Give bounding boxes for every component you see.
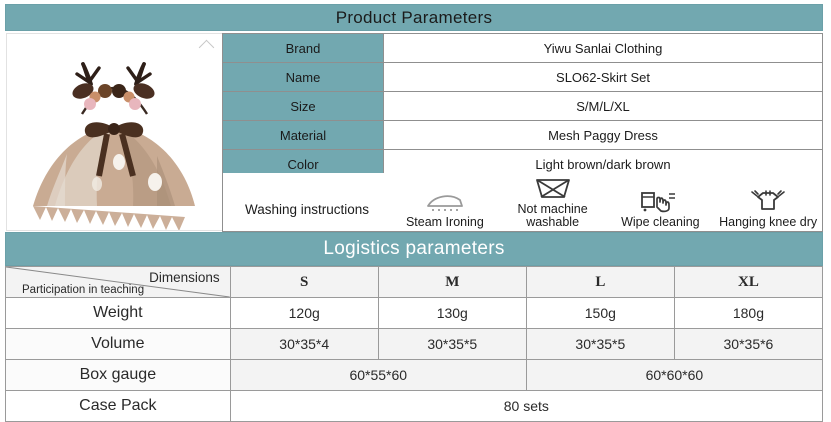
table-row: Brand Yiwu Sanlai Clothing <box>223 34 823 63</box>
param-value-material: Mesh Paggy Dress <box>384 121 823 150</box>
table-row: Material Mesh Paggy Dress <box>223 121 823 150</box>
param-label-name: Name <box>223 63 384 92</box>
product-parameters-banner: Product Parameters <box>5 4 823 31</box>
logistics-label-volume: Volume <box>6 329 231 360</box>
logistics-parameters-title: Logistics parameters <box>323 238 504 260</box>
param-label-brand: Brand <box>223 34 384 63</box>
logistics-volume-xl: 30*35*6 <box>674 329 822 360</box>
care-item-wipe-cleaning: Wipe cleaning <box>607 188 715 231</box>
logistics-case-pack-value: 80 sets <box>230 391 822 422</box>
hang-dry-icon <box>746 188 790 214</box>
washing-instructions-row: Washing instructions Steam Ironing Not m… <box>222 173 823 232</box>
param-label-size: Size <box>223 92 384 121</box>
product-parameters-table: Brand Yiwu Sanlai Clothing Name SLO62-Sk… <box>222 33 823 179</box>
logistics-box-gauge-sm: 60*55*60 <box>230 360 526 391</box>
logistics-weight-m: 130g <box>378 298 526 329</box>
param-value-size: S/M/L/XL <box>384 92 823 121</box>
logistics-box-gauge-lxl: 60*60*60 <box>526 360 822 391</box>
logistics-col-m: M <box>378 267 526 298</box>
logistics-weight-s: 120g <box>230 298 378 329</box>
product-parameters-title: Product Parameters <box>336 8 493 28</box>
logistics-col-s: S <box>230 267 378 298</box>
logistics-corner-cell: Dimensions Participation in teaching <box>6 267 231 298</box>
steam-iron-icon <box>424 190 466 214</box>
care-label-hanging-knee-dry: Hanging knee dry <box>719 216 817 229</box>
logistics-corner-dimensions: Dimensions <box>149 270 220 285</box>
table-row: Box gauge 60*55*60 60*60*60 <box>6 360 823 391</box>
care-label-wipe-cleaning: Wipe cleaning <box>621 216 700 229</box>
param-value-name: SLO62-Skirt Set <box>384 63 823 92</box>
product-parameters-infographic: Product Parameters <box>0 0 831 401</box>
logistics-label-box-gauge: Box gauge <box>6 360 231 391</box>
logistics-table: Dimensions Participation in teaching S M… <box>5 266 823 422</box>
param-value-brand: Yiwu Sanlai Clothing <box>384 34 823 63</box>
care-item-not-machine-washable: Not machine washable <box>499 175 607 231</box>
param-label-material: Material <box>223 121 384 150</box>
logistics-col-xl: XL <box>674 267 822 298</box>
care-item-steam-ironing: Steam Ironing <box>391 190 499 231</box>
table-row: Volume 30*35*4 30*35*5 30*35*5 30*35*6 <box>6 329 823 360</box>
logistics-weight-l: 150g <box>526 298 674 329</box>
reindeer-tutu-illustration <box>7 34 222 230</box>
care-item-hanging-knee-dry: Hanging knee dry <box>714 188 822 231</box>
table-row: Weight 120g 130g 150g 180g <box>6 298 823 329</box>
table-row: Size S/M/L/XL <box>223 92 823 121</box>
care-label-steam-ironing: Steam Ironing <box>406 216 484 229</box>
logistics-corner-participation: Participation in teaching <box>22 285 144 297</box>
logistics-volume-m: 30*35*5 <box>378 329 526 360</box>
logistics-volume-l: 30*35*5 <box>526 329 674 360</box>
table-row: Name SLO62-Skirt Set <box>223 63 823 92</box>
logistics-label-case-pack: Case Pack <box>6 391 231 422</box>
no-machine-wash-icon <box>534 175 572 201</box>
logistics-weight-xl: 180g <box>674 298 822 329</box>
table-row: Case Pack 80 sets <box>6 391 823 422</box>
wipe-cleaning-icon <box>639 188 681 214</box>
logistics-label-weight: Weight <box>6 298 231 329</box>
care-label-not-machine-washable: Not machine washable <box>499 203 607 229</box>
product-photo <box>6 33 223 231</box>
logistics-header-row: Dimensions Participation in teaching S M… <box>6 267 823 298</box>
logistics-col-l: L <box>526 267 674 298</box>
logistics-volume-s: 30*35*4 <box>230 329 378 360</box>
logistics-parameters-banner: Logistics parameters <box>5 232 823 266</box>
washing-instructions-title: Washing instructions <box>223 202 391 231</box>
